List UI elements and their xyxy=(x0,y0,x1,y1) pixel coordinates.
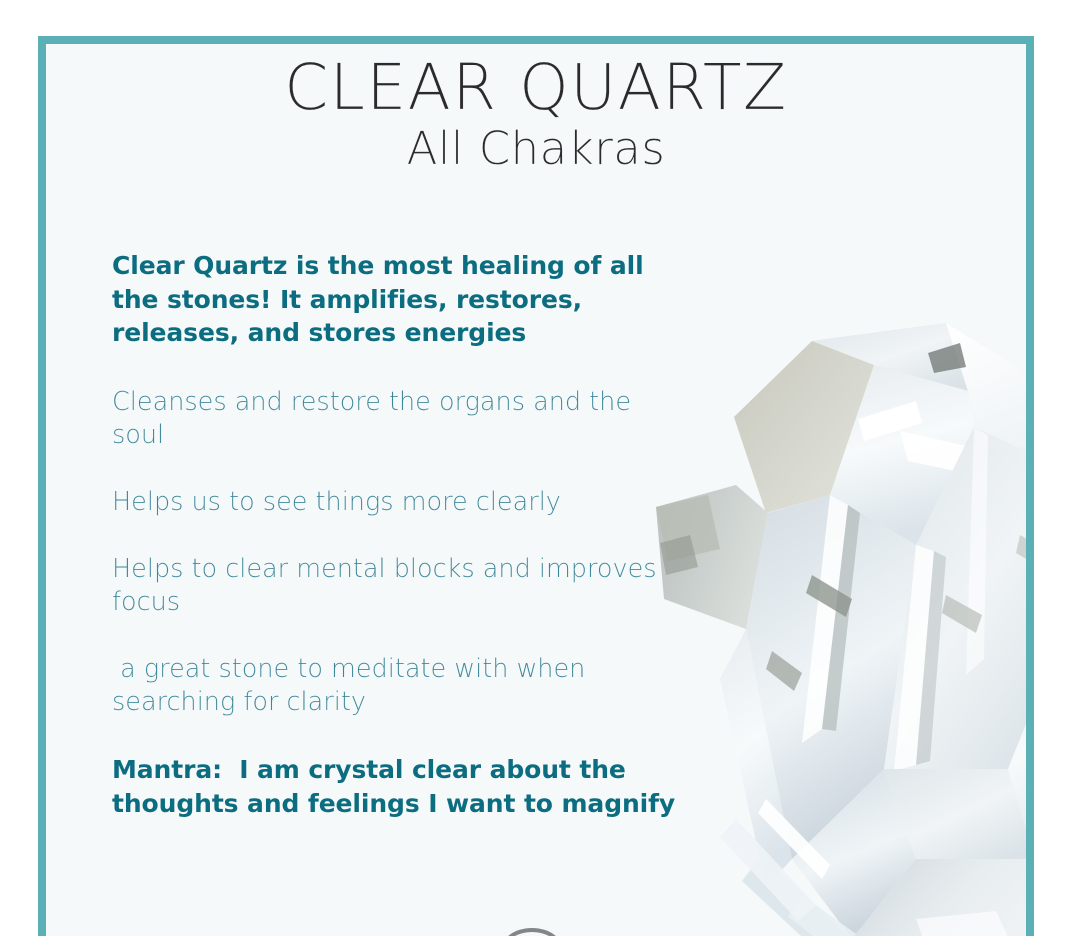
page-subtitle: All Chakras xyxy=(46,122,1026,174)
paragraph-mental-blocks: Helps to clear mental blocks and improve… xyxy=(112,553,687,619)
page-title: CLEAR QUARTZ xyxy=(46,44,1026,122)
bottom-cutoff-graphic xyxy=(501,928,563,936)
crystal-info-card: CLEAR QUARTZ All Chakras xyxy=(38,36,1034,936)
paragraph-meditation: a great stone to meditate with when sear… xyxy=(112,653,687,719)
paragraph-clarity-sight: Helps us to see things more clearly xyxy=(112,486,687,519)
paragraph-intro: Clear Quartz is the most healing of all … xyxy=(112,249,687,350)
paragraph-cleanses: Cleanses and restore the organs and the … xyxy=(112,386,687,452)
body-copy: Clear Quartz is the most healing of all … xyxy=(112,249,687,820)
card-header: CLEAR QUARTZ All Chakras xyxy=(46,44,1026,174)
paragraph-mantra: Mantra: I am crystal clear about the tho… xyxy=(112,753,687,820)
